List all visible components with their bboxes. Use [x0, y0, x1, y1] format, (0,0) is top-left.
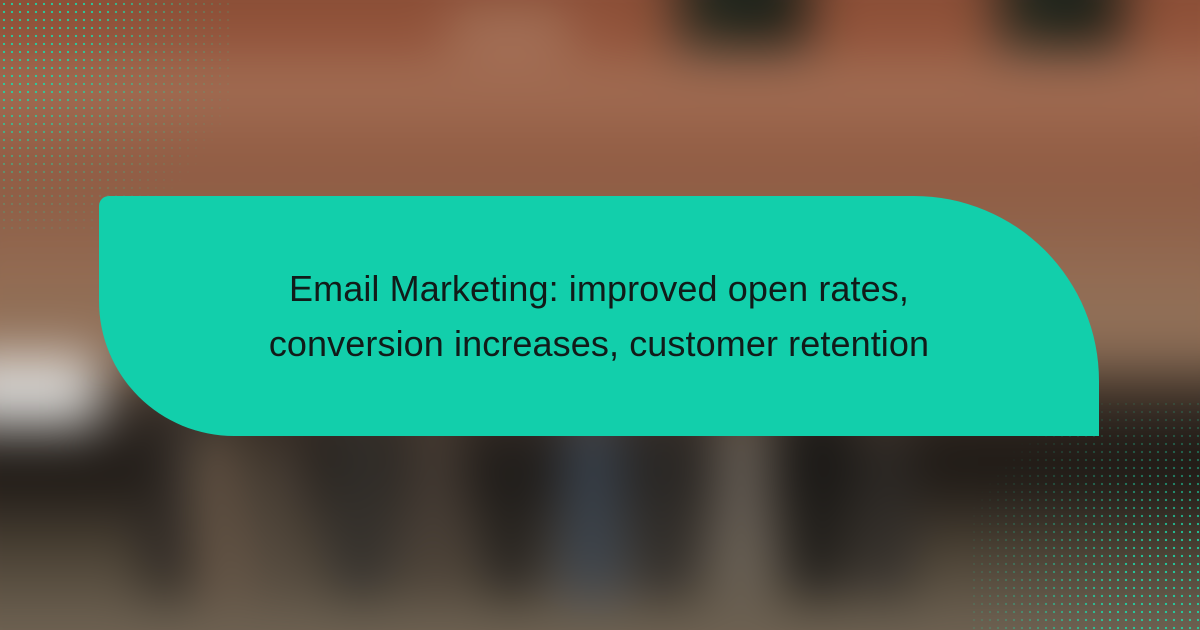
- person-body: [640, 424, 690, 598]
- person-silhouette: [258, 428, 300, 598]
- white-board-object: [0, 355, 100, 427]
- person-body: [192, 432, 240, 598]
- person-silhouette: [192, 408, 240, 598]
- window-sill-left: [666, 44, 820, 60]
- person-body: [145, 421, 199, 598]
- headline-card: Email Marketing: improved open rates, co…: [99, 196, 1099, 436]
- window-sill-right: [986, 44, 1136, 60]
- person-body: [862, 430, 908, 598]
- person-silhouette: [862, 408, 908, 598]
- wall-light-band: [0, 60, 1200, 152]
- person-silhouette: [488, 418, 534, 598]
- wall-patch: [450, 10, 570, 50]
- person-body: [258, 448, 300, 598]
- person-body: [564, 416, 620, 598]
- person-body: [332, 413, 390, 598]
- headline-text: Email Marketing: improved open rates, co…: [239, 261, 959, 371]
- building-window-left: [680, 0, 806, 46]
- banner-canvas: Email Marketing: improved open rates, co…: [0, 0, 1200, 630]
- person-body: [410, 427, 460, 598]
- building-window-right: [1000, 0, 1120, 46]
- person-body: [716, 419, 768, 598]
- person-body: [488, 440, 534, 598]
